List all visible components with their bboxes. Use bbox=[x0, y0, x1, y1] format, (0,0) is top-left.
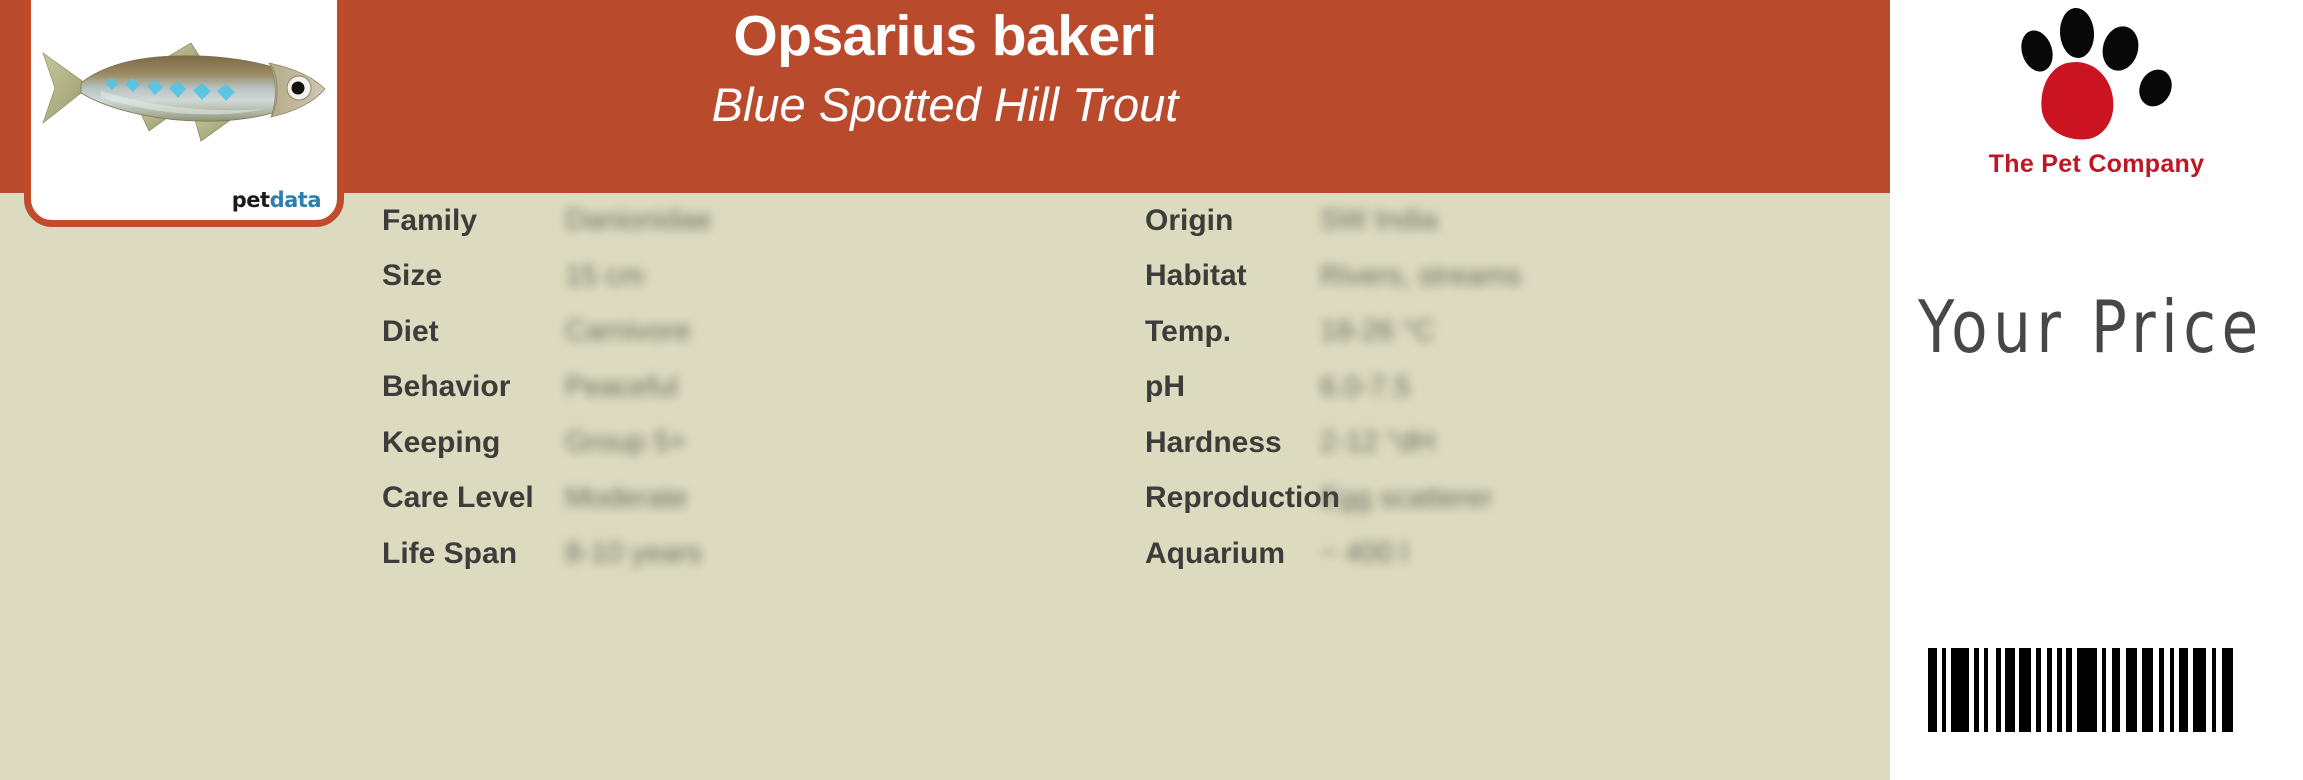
barcode-gap bbox=[1988, 648, 1996, 732]
spec-value-behavior: Peaceful bbox=[565, 371, 678, 404]
spec-row: pH 6.0-7.5 bbox=[1145, 360, 1885, 416]
spec-row: Origin SW India bbox=[1145, 193, 1885, 249]
spec-value-care-level: Moderate bbox=[565, 482, 688, 515]
spec-label-diet: Diet bbox=[382, 315, 565, 349]
spec-label-behavior: Behavior bbox=[382, 370, 565, 404]
barcode-bar bbox=[1951, 648, 1969, 732]
spec-label-temp: Temp. bbox=[1145, 315, 1320, 349]
spec-label-keeping: Keeping bbox=[382, 426, 565, 460]
barcode-bar bbox=[2142, 648, 2153, 732]
spec-row: Care Level Moderate bbox=[382, 471, 1142, 527]
spec-row: Diet Carnivore bbox=[382, 304, 1142, 360]
barcode-bar bbox=[2126, 648, 2137, 732]
spec-value-ph: 6.0-7.5 bbox=[1320, 371, 1410, 404]
species-photo-card: petdata bbox=[24, 0, 344, 227]
spec-label-habitat: Habitat bbox=[1145, 259, 1320, 293]
species-info-panel: Opsarius bakeri Blue Spotted Hill Trout bbox=[0, 0, 1890, 780]
spec-value-keeping: Group 5+ bbox=[565, 426, 687, 459]
spec-label-life-span: Life Span bbox=[382, 537, 565, 571]
spec-value-life-span: 8-10 years bbox=[565, 537, 702, 570]
paw-toe-icon bbox=[2097, 22, 2143, 75]
spec-label-family: Family bbox=[382, 204, 565, 238]
barcode-bar bbox=[2019, 648, 2031, 732]
paw-pad-icon bbox=[2037, 58, 2117, 143]
spec-row: Aquarium ~ 400 l bbox=[1145, 526, 1885, 582]
petdata-watermark: petdata bbox=[232, 190, 321, 211]
spec-label-ph: pH bbox=[1145, 370, 1320, 404]
barcode-bar bbox=[2179, 648, 2188, 732]
spec-value-size: 15 cm bbox=[565, 260, 644, 293]
common-name: Blue Spotted Hill Trout bbox=[310, 65, 1580, 128]
spec-label-reproduction: Reproduction bbox=[1145, 481, 1320, 515]
paw-toe-icon bbox=[2016, 26, 2058, 75]
spec-value-aquarium: ~ 400 l bbox=[1320, 537, 1408, 570]
spec-row: Size 15 cm bbox=[382, 249, 1142, 305]
watermark-text-pet: pet bbox=[232, 188, 270, 212]
price-label: Your Price bbox=[1918, 285, 2264, 369]
pet-shop-species-label: Opsarius bakeri Blue Spotted Hill Trout bbox=[0, 0, 2303, 780]
spec-row: Hardness 2-12 °dH bbox=[1145, 415, 1885, 471]
paw-print-icon bbox=[2018, 4, 2178, 149]
spec-row: Habitat Rivers, streams bbox=[1145, 249, 1885, 305]
spec-value-temp: 18-26 °C bbox=[1320, 315, 1435, 348]
spec-column-left: Family Danionidae Size 15 cm Diet Carniv… bbox=[382, 193, 1142, 582]
paw-toe-icon bbox=[2133, 64, 2178, 112]
barcode-bar bbox=[2222, 648, 2233, 732]
spec-value-diet: Carnivore bbox=[565, 315, 691, 348]
spec-table: Family Danionidae Size 15 cm Diet Carniv… bbox=[0, 193, 1890, 780]
brand-logo: The Pet Company bbox=[1890, 2, 2303, 192]
title-block: Opsarius bakeri Blue Spotted Hill Trout bbox=[310, 8, 1580, 128]
watermark-text-data: data bbox=[270, 188, 321, 212]
spec-value-origin: SW India bbox=[1320, 204, 1438, 237]
scientific-name: Opsarius bakeri bbox=[310, 8, 1580, 65]
barcode-bar bbox=[2112, 648, 2120, 732]
paw-toe-icon bbox=[2058, 7, 2095, 59]
spec-row: Family Danionidae bbox=[382, 193, 1142, 249]
spec-value-hardness: 2-12 °dH bbox=[1320, 426, 1435, 459]
price-panel: The Pet Company Your Price bbox=[1890, 0, 2303, 780]
spec-row: Temp. 18-26 °C bbox=[1145, 304, 1885, 360]
spec-row: Behavior Peaceful bbox=[382, 360, 1142, 416]
spec-value-family: Danionidae bbox=[565, 204, 712, 237]
barcode-bar bbox=[2193, 648, 2206, 732]
spec-row: Keeping Group 5+ bbox=[382, 415, 1142, 471]
spec-label-aquarium: Aquarium bbox=[1145, 537, 1320, 571]
barcode-bar bbox=[2077, 648, 2097, 732]
spec-label-origin: Origin bbox=[1145, 204, 1320, 238]
spec-value-habitat: Rivers, streams bbox=[1320, 260, 1521, 293]
spec-label-hardness: Hardness bbox=[1145, 426, 1320, 460]
barcode-bar bbox=[1928, 648, 1937, 732]
spec-row: Reproduction Egg scatterer bbox=[1145, 471, 1885, 527]
spec-row: Life Span 8-10 years bbox=[382, 526, 1142, 582]
spec-label-size: Size bbox=[382, 259, 565, 293]
spec-value-reproduction: Egg scatterer bbox=[1320, 482, 1492, 515]
spec-label-care-level: Care Level bbox=[382, 481, 565, 515]
brand-name: The Pet Company bbox=[1890, 150, 2303, 179]
barcode bbox=[1928, 648, 2233, 732]
spec-column-right: Origin SW India Habitat Rivers, streams … bbox=[1145, 193, 1885, 582]
fish-photo bbox=[41, 31, 333, 156]
barcode-bar bbox=[2005, 648, 2015, 732]
